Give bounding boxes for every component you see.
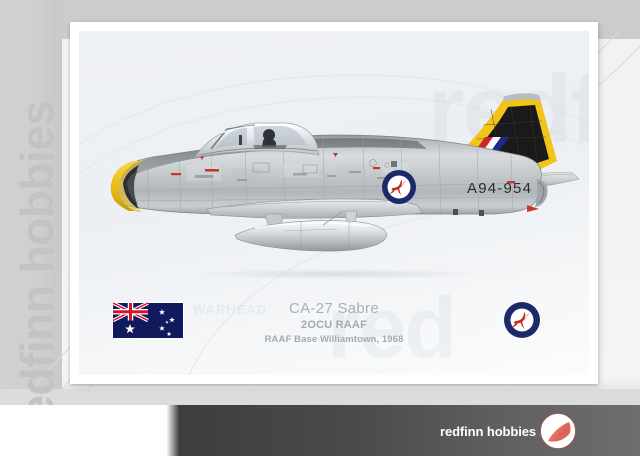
aircraft-profile-illustration: A94-954 bbox=[87, 83, 581, 263]
fuselage-roundel-marking bbox=[382, 170, 416, 204]
aircraft-ground-shadow bbox=[194, 269, 484, 279]
page-background: redfinn hobbies redfi red WARHEAD bbox=[0, 0, 640, 456]
artwork-card: redfi red WARHEAD bbox=[70, 22, 598, 384]
aircraft-serial-text: A94-954 bbox=[467, 180, 532, 197]
footer-brand-text: redfinn hobbies bbox=[440, 424, 536, 439]
raaf-roundel-icon bbox=[501, 299, 543, 341]
footer-brand: redfinn hobbies bbox=[440, 412, 577, 450]
redfinn-fin-logo-icon bbox=[539, 412, 577, 450]
artwork-canvas: redfi red WARHEAD bbox=[79, 31, 589, 375]
australian-flag-icon bbox=[112, 302, 184, 339]
